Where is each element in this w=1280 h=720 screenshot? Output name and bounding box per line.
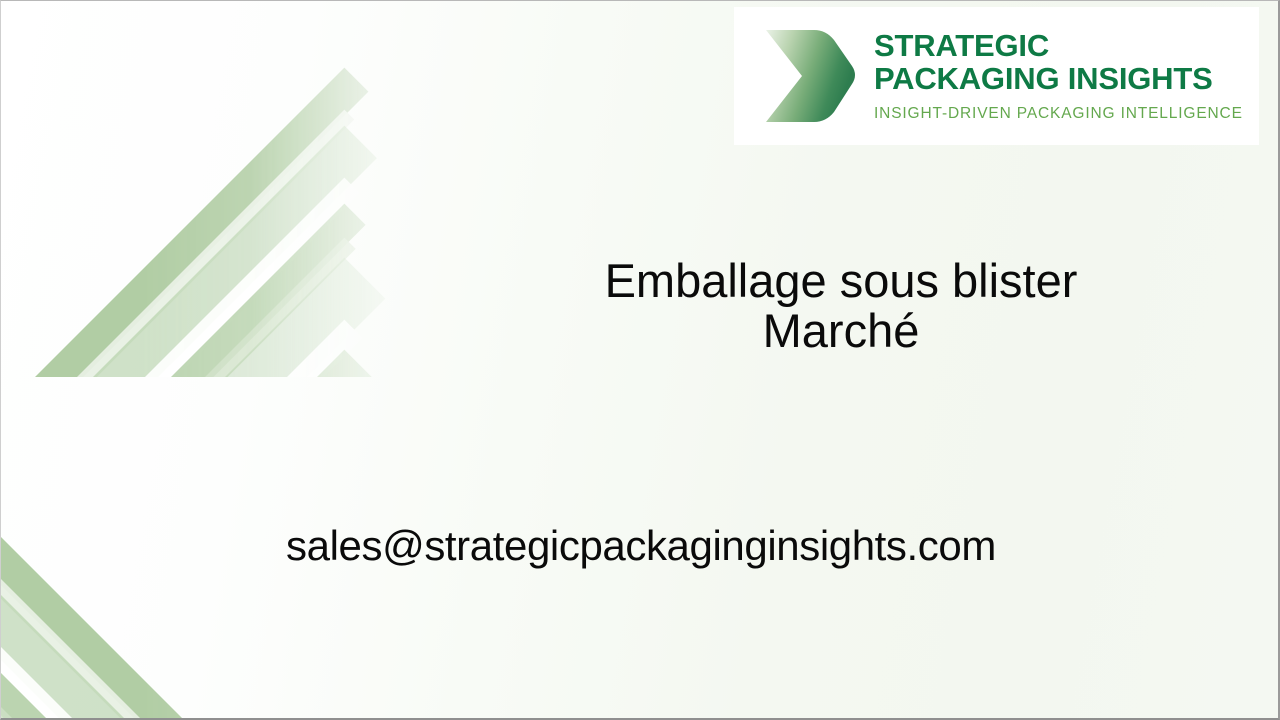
chevron-stripes-graphic: [0, 1, 431, 720]
brand-name-line1: STRATEGIC: [874, 30, 1255, 61]
page-title: Emballage sous blister Marché: [441, 256, 1241, 357]
brand-logo: STRATEGIC PACKAGING INSIGHTS INSIGHT-DRI…: [734, 7, 1259, 145]
chevron-arrow-mark: [752, 20, 864, 132]
title-line-1: Emballage sous blister: [441, 256, 1241, 306]
brand-name-line2: PACKAGING INSIGHTS: [874, 63, 1255, 94]
brand-tagline: INSIGHT-DRIVEN PACKAGING INTELLIGENCE: [874, 105, 1255, 123]
title-slide: STRATEGIC PACKAGING INSIGHTS INSIGHT-DRI…: [0, 0, 1280, 720]
contact-email[interactable]: sales@strategicpackaginginsights.com: [1, 523, 1280, 569]
title-line-2: Marché: [441, 306, 1241, 356]
chevron-stripes-upper: [0, 1, 431, 377]
